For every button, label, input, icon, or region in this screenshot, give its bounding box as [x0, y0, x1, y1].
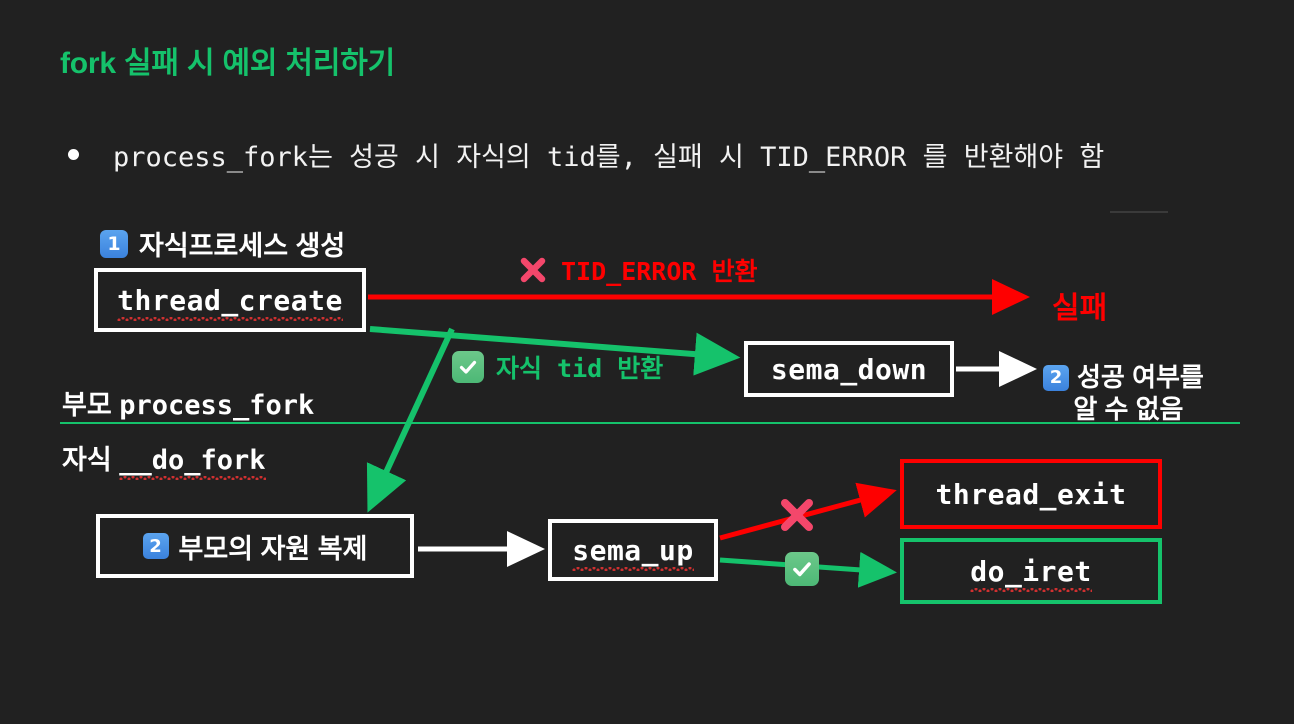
edge-label-tid-error-text: TID_ERROR 반환	[561, 252, 758, 288]
bullet-text: process_fork는 성공 시 자식의 tid를, 실패 시 TID_ER…	[113, 135, 1104, 174]
node-sema-up[interactable]: sema_up	[548, 519, 718, 581]
node-thread-create-label: thread_create	[117, 284, 343, 317]
role-label-child: 자식 __do_fork	[62, 438, 266, 477]
number-2-badge-icon: 2	[143, 533, 169, 559]
node-thread-exit[interactable]: thread_exit	[900, 459, 1162, 529]
arrow-threadcreate-to-parentcopy	[371, 329, 452, 505]
node-thread-create[interactable]: thread_create	[94, 268, 366, 332]
role-parent-code: process_fork	[119, 390, 314, 421]
node-sema-down[interactable]: sema_down	[744, 341, 954, 397]
node-parent-resource-copy[interactable]: 2 부모의 자원 복제	[96, 514, 414, 578]
check-mark-icon	[785, 552, 819, 586]
number-1-badge-icon: 1	[100, 230, 128, 258]
decorative-line	[1110, 211, 1168, 213]
role-parent-ko: 부모	[62, 390, 112, 420]
outcome-unknown-line1: 성공 여부를	[1077, 362, 1204, 394]
node-do-iret[interactable]: do_iret	[900, 538, 1162, 604]
role-child-ko: 자식	[62, 445, 112, 475]
section-divider	[60, 422, 1240, 424]
outcome-fail-text: 실패	[1052, 283, 1107, 327]
cross-mark-icon	[777, 495, 817, 535]
check-mark-icon	[452, 351, 484, 383]
bullet-item: process_fork는 성공 시 자식의 tid를, 실패 시 TID_ER…	[68, 135, 1104, 174]
step-1-label: 자식프로세스 생성	[139, 224, 345, 263]
slide-canvas: fork 실패 시 예외 처리하기 process_fork는 성공 시 자식의…	[0, 0, 1294, 724]
node-sema-up-label: sema_up	[572, 534, 694, 567]
bullet-dot-icon	[68, 149, 79, 160]
outcome-unknown-text: 2 성공 여부를 알 수 없음	[1043, 362, 1204, 425]
cross-mark-icon	[518, 255, 548, 285]
node-parent-resource-copy-label: 부모의 자원 복제	[179, 527, 368, 566]
role-child-code: __do_fork	[119, 445, 265, 476]
node-sema-down-label: sema_down	[771, 353, 927, 386]
edge-label-child-tid-text: 자식 tid 반환	[496, 349, 663, 385]
role-label-parent: 부모 process_fork	[62, 383, 314, 422]
node-thread-exit-label: thread_exit	[936, 478, 1127, 511]
outcome-unknown-line2: 알 수 없음	[1043, 394, 1204, 426]
number-2-badge-icon: 2	[1043, 365, 1069, 391]
step-1-heading: 1 자식프로세스 생성	[100, 224, 345, 263]
edge-label-child-tid: 자식 tid 반환	[452, 349, 663, 385]
node-do-iret-label: do_iret	[970, 555, 1092, 588]
edge-label-tid-error: TID_ERROR 반환	[518, 252, 758, 288]
page-title: fork 실패 시 예외 처리하기	[60, 38, 395, 82]
